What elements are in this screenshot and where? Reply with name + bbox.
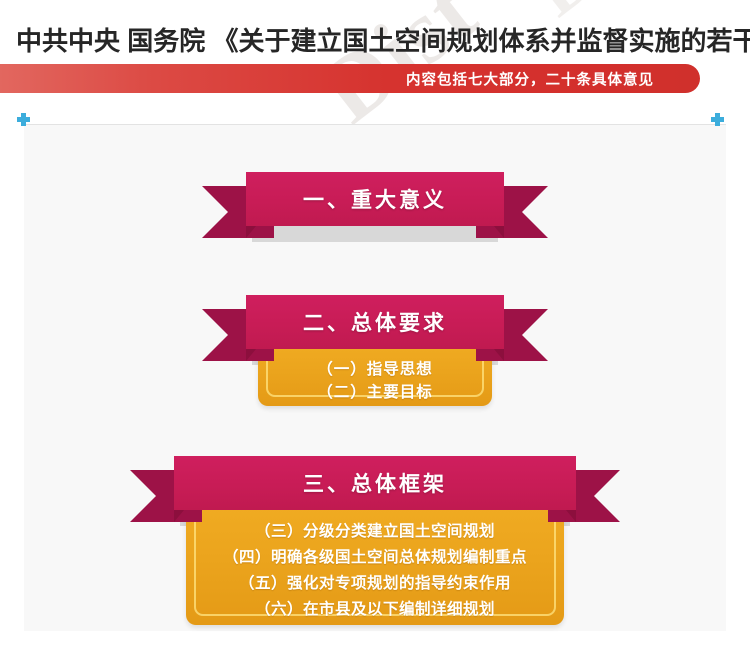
list-item: （二）主要目标 [258,381,492,404]
cross-marker-icon [711,113,724,126]
ribbon-fold-left [246,226,256,238]
ribbon-main-2: 二、总体要求 [246,295,504,349]
subtitle-text: 内容包括七大部分，二十条具体意见 [406,68,654,89]
list-item: （四）明确各级国土空间总体规划编制重点 [186,545,564,571]
section-items-panel-2: （一）指导思想 （二）主要目标 [258,344,492,406]
list-item: （六）在市县及以下编制详细规划 [186,597,564,623]
ribbon-main-3: 三、总体框架 [174,456,576,510]
ribbon-fold-left [174,510,184,522]
ribbon-fold-right [494,226,504,238]
section-block-3: （三）分级分类建立国土空间规划 （四）明确各级国土空间总体规划编制重点 （五）强… [0,456,750,636]
ribbon-shadow [252,226,498,242]
section-block-1: 一、重大意义 [0,172,750,262]
section-heading-3: 三、总体框架 [303,468,447,498]
poster-header: 中共中央 国务院 《关于建立国土空间规划体系并监督实施的若干意见》 内容包括七大… [0,0,750,104]
ribbon-main-1: 一、重大意义 [246,172,504,226]
subtitle-band: 内容包括七大部分，二十条具体意见 [0,64,700,93]
cross-marker-icon [17,113,30,126]
list-item: （三）分级分类建立国土空间规划 [186,519,564,545]
section-heading-2: 二、总体要求 [303,307,447,337]
ribbon-fold-right [566,510,576,522]
ribbon-fold-left [246,349,256,361]
page-title: 中共中央 国务院 《关于建立国土空间规划体系并监督实施的若干意见》 [16,21,750,58]
section-item-list-3: （三）分级分类建立国土空间规划 （四）明确各级国土空间总体规划编制重点 （五）强… [186,505,564,623]
infographic-poster: Dist Dist Dis 中共中央 国务院 《关于建立国土空间规划体系并监督实… [0,0,750,646]
list-item: （一）指导思想 [258,358,492,381]
list-item: （五）强化对专项规划的指导约束作用 [186,571,564,597]
section-heading-1: 一、重大意义 [303,184,447,214]
section-item-list-2: （一）指导思想 （二）主要目标 [258,344,492,404]
section-block-2: （一）指导思想 （二）主要目标 二、总体要求 [0,295,750,420]
ribbon-fold-right [494,349,504,361]
section-items-panel-3: （三）分级分类建立国土空间规划 （四）明确各级国土空间总体规划编制重点 （五）强… [186,505,564,625]
